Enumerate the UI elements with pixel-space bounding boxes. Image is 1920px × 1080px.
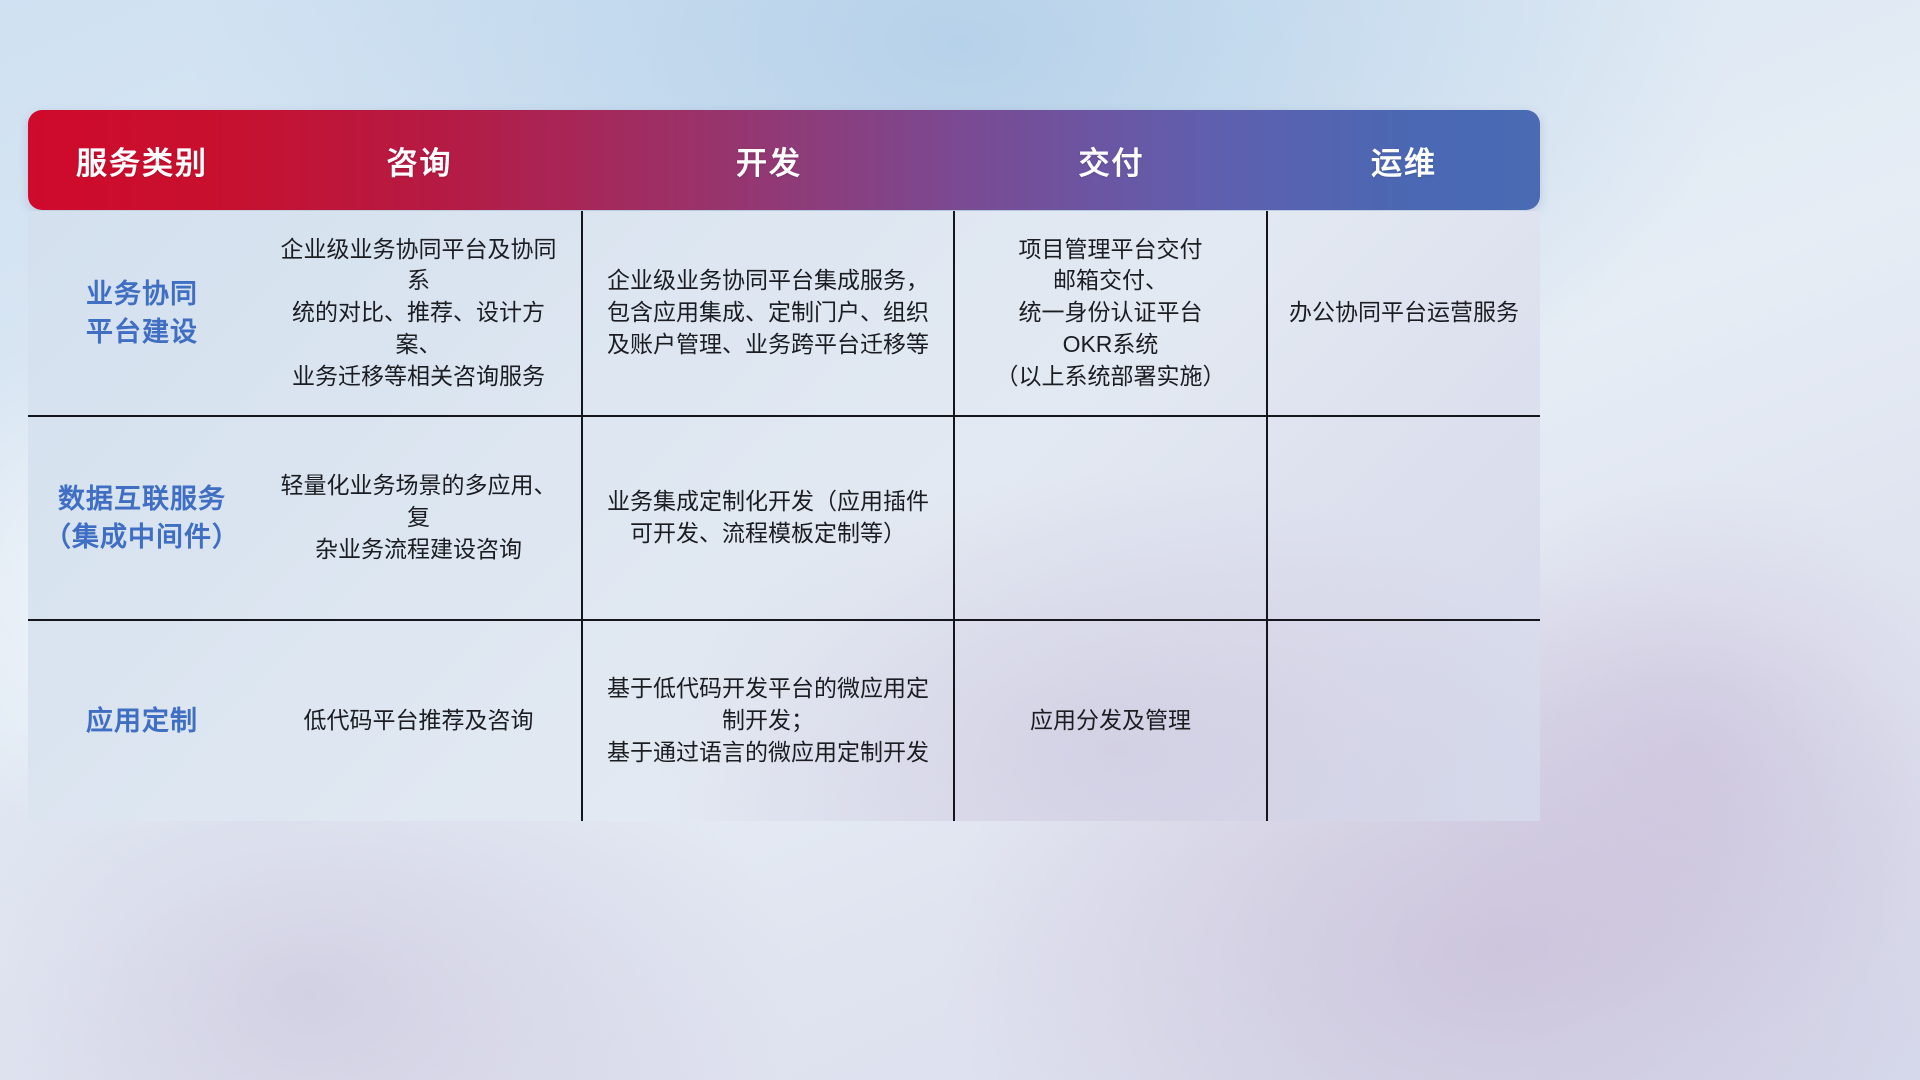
category-label: 业务协同 平台建设 xyxy=(86,275,198,352)
column-header-delivery: 交付 xyxy=(955,110,1268,210)
column-header-development: 开发 xyxy=(583,110,955,210)
cell-development: 基于低代码开发平台的微应用定 制开发； 基于通过语言的微应用定制开发 xyxy=(583,621,955,821)
row-category-cell: 应用定制 xyxy=(28,621,256,821)
category-label: 应用定制 xyxy=(86,702,198,740)
table-row: 业务协同 平台建设 企业级业务协同平台及协同系 统的对比、推荐、设计方案、 业务… xyxy=(28,211,1540,417)
table-header-row: 服务类别 咨询 开发 交付 运维 xyxy=(28,110,1540,210)
cell-delivery xyxy=(955,417,1268,619)
column-header-consulting: 咨询 xyxy=(256,110,583,210)
cell-delivery: 应用分发及管理 xyxy=(955,621,1268,821)
row-category-cell: 数据互联服务 （集成中间件） xyxy=(28,417,256,619)
cell-consulting: 低代码平台推荐及咨询 xyxy=(256,621,583,821)
cell-consulting: 轻量化业务场景的多应用、复 杂业务流程建设咨询 xyxy=(256,417,583,619)
cell-development: 业务集成定制化开发（应用插件 可开发、流程模板定制等） xyxy=(583,417,955,619)
cell-operations xyxy=(1268,417,1540,619)
service-matrix-table: 服务类别 咨询 开发 交付 运维 业务协同 平台建设 企业级业务协同平台及协同系… xyxy=(28,110,1540,821)
row-category-cell: 业务协同 平台建设 xyxy=(28,211,256,415)
table-body: 业务协同 平台建设 企业级业务协同平台及协同系 统的对比、推荐、设计方案、 业务… xyxy=(28,211,1540,821)
cell-development: 企业级业务协同平台集成服务， 包含应用集成、定制门户、组织 及账户管理、业务跨平… xyxy=(583,211,955,415)
cell-consulting: 企业级业务协同平台及协同系 统的对比、推荐、设计方案、 业务迁移等相关咨询服务 xyxy=(256,211,583,415)
table-row: 应用定制 低代码平台推荐及咨询 基于低代码开发平台的微应用定 制开发； 基于通过… xyxy=(28,621,1540,821)
cell-operations: 办公协同平台运营服务 xyxy=(1268,211,1540,415)
cell-operations xyxy=(1268,621,1540,821)
cell-delivery: 项目管理平台交付 邮箱交付、 统一身份认证平台 OKR系统 （以上系统部署实施） xyxy=(955,211,1268,415)
column-header-service-category: 服务类别 xyxy=(28,110,256,210)
category-label: 数据互联服务 （集成中间件） xyxy=(44,480,240,557)
table-row: 数据互联服务 （集成中间件） 轻量化业务场景的多应用、复 杂业务流程建设咨询 业… xyxy=(28,417,1540,621)
column-header-operations: 运维 xyxy=(1268,110,1540,210)
